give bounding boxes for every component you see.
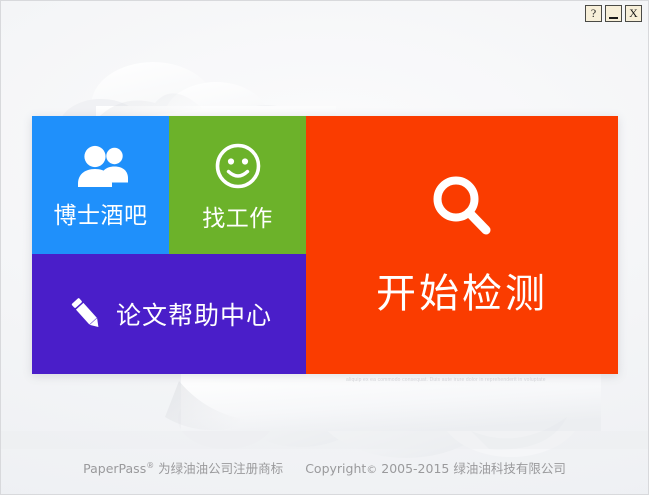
pencil-icon — [66, 294, 106, 334]
footer-brand-name: PaperPass — [83, 461, 146, 476]
registered-mark-icon: ® — [146, 461, 154, 470]
copyright-mark-icon: © — [366, 463, 377, 476]
footer-copyright: Copyright© 2005-2015 绿油油科技有限公司 — [305, 461, 566, 476]
tile-left-column: 博士酒吧 找工作 — [32, 116, 306, 374]
magnifier-icon — [426, 171, 498, 243]
minimize-icon — [609, 17, 618, 19]
tile-doctor-bar-label: 博士酒吧 — [54, 196, 148, 230]
window-controls: ? X — [585, 5, 642, 22]
tile-paper-help-label: 论文帮助中心 — [116, 296, 272, 332]
footer: PaperPass® 为绿油油公司注册商标Copyright© 2005-201… — [1, 458, 648, 477]
tile-doctor-bar[interactable]: 博士酒吧 — [32, 116, 169, 254]
footer-copyright-word: Copyright — [305, 461, 366, 476]
two-people-icon — [73, 145, 129, 187]
tile-grid: 博士酒吧 找工作 — [32, 116, 618, 374]
tile-start-check[interactable]: 开始检测 — [306, 116, 618, 374]
footer-copyright-years: 2005-2015 绿油油科技有限公司 — [377, 461, 566, 476]
tile-start-check-label: 开始检测 — [376, 261, 548, 319]
tile-paper-help[interactable]: 论文帮助中心 — [32, 254, 306, 374]
tile-top-row: 博士酒吧 找工作 — [32, 116, 306, 254]
minimize-button[interactable] — [605, 5, 622, 22]
tile-find-job-label: 找工作 — [202, 199, 273, 233]
footer-trademark-text: 为绿油油公司注册商标 — [154, 461, 283, 476]
help-button[interactable]: ? — [585, 5, 602, 22]
close-button[interactable]: X — [625, 5, 642, 22]
footer-trademark: PaperPass® 为绿油油公司注册商标 — [83, 461, 283, 476]
tile-find-job[interactable]: 找工作 — [169, 116, 306, 254]
paperpass-app-window: magna aliqua. Ut enim ad minim veniam, q… — [0, 0, 649, 495]
titlebar: ? X — [1, 1, 648, 30]
smiley-face-icon — [214, 142, 262, 190]
